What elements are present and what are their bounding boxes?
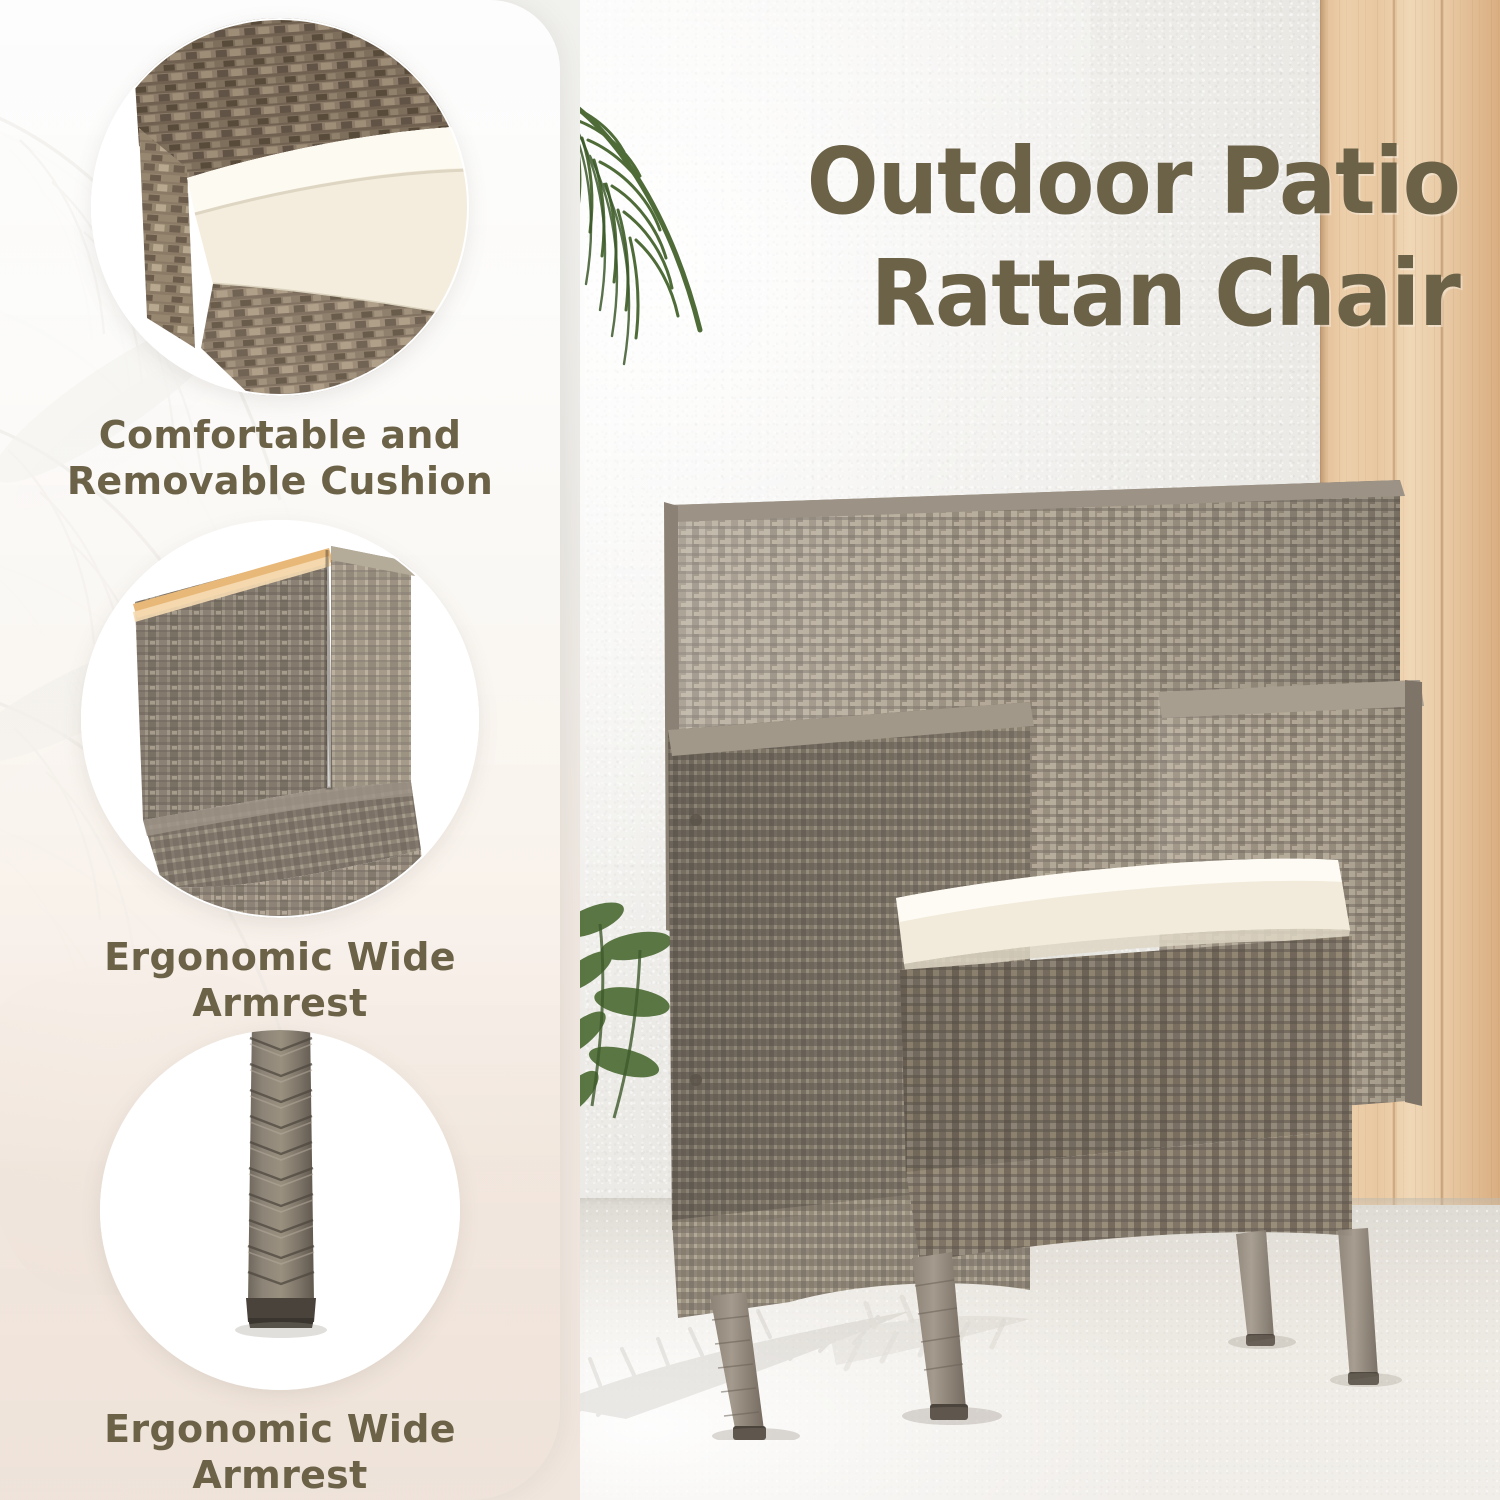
caption-line-2: Armrest (192, 981, 367, 1025)
caption-line-2: Removable Cushion (67, 459, 493, 503)
feature-armrest: Ergonomic Wide Armrest (0, 520, 560, 1027)
title-line-1: Outdoor Patio (807, 128, 1460, 235)
caption-line-1: Ergonomic Wide (104, 935, 456, 979)
feature-caption-armrest: Ergonomic Wide Armrest (0, 934, 560, 1027)
infographic-canvas: Comfortable and Removable Cushion (0, 0, 1500, 1500)
feature-caption-cushion: Comfortable and Removable Cushion (0, 412, 560, 505)
rattan-armchair (560, 430, 1500, 1440)
caption-line-1: Comfortable and (99, 413, 461, 457)
title-line-2: Rattan Chair (761, 238, 1460, 350)
feature-panel: Comfortable and Removable Cushion (0, 0, 560, 1500)
feature-photo-cushion (91, 18, 469, 396)
feature-cushion: Comfortable and Removable Cushion (0, 18, 560, 505)
feature-caption-leg: Ergonomic Wide Armrest (0, 1406, 560, 1499)
caption-line-1: Ergonomic Wide (104, 1407, 456, 1451)
page-title: Outdoor Patio Rattan Chair (761, 126, 1460, 350)
feature-leg: Ergonomic Wide Armrest (0, 1030, 560, 1499)
feature-photo-leg (100, 1030, 460, 1390)
caption-line-2: Armrest (192, 1453, 367, 1497)
feature-photo-armrest (81, 520, 479, 918)
